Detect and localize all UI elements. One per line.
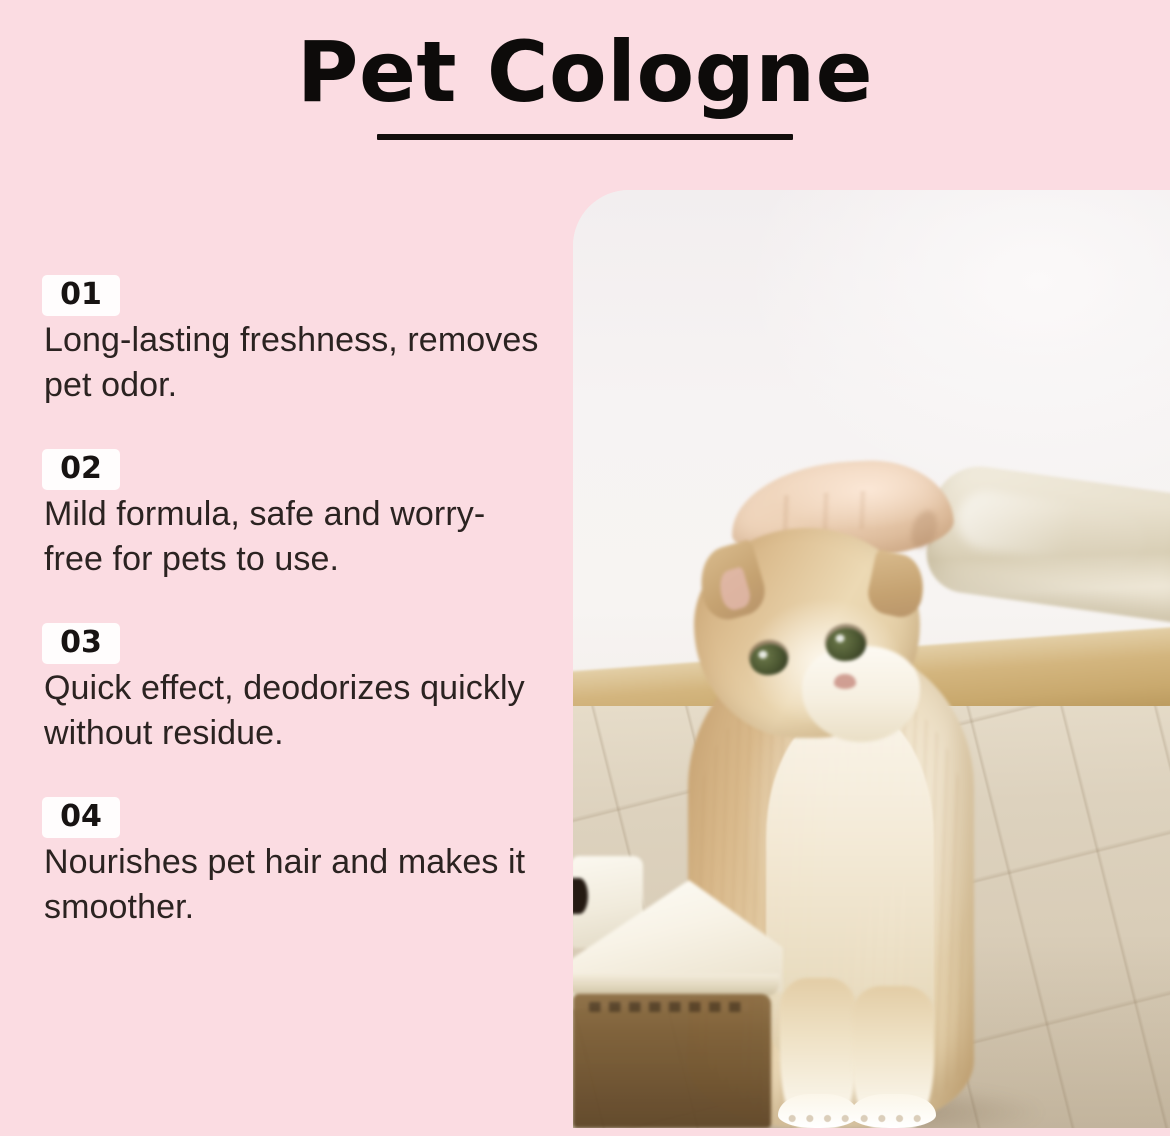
- cat-paw-toes-right: [856, 1112, 924, 1125]
- feature-item-03: 03 Quick effect, deodorizes quickly with…: [42, 623, 542, 756]
- cat-ear-inner-left: [715, 566, 753, 612]
- feature-item-01: 01 Long-lasting freshness, removes pet o…: [42, 275, 542, 408]
- poster-canvas: Pet Cologne 01 Long-lasting freshness, r…: [0, 0, 1170, 1136]
- cat-eye-left: [748, 642, 789, 677]
- feature-number-badge-02: 02: [42, 449, 120, 490]
- feature-item-02: 02 Mild formula, safe and worry-free for…: [42, 449, 542, 582]
- cat-head: [694, 528, 920, 738]
- fountain-sensor-icon: [573, 878, 588, 914]
- cat-paw-toes-left: [784, 1112, 852, 1125]
- cat-ear-right: [864, 549, 930, 621]
- feature-item-04: 04 Nourishes pet hair and makes it smoot…: [42, 797, 542, 930]
- fountain-lid-rim: [573, 974, 779, 996]
- cat-paw-left: [778, 1094, 858, 1128]
- feature-number-badge-04: 04: [42, 797, 120, 838]
- feature-text-02: Mild formula, safe and worry-free for pe…: [44, 492, 542, 582]
- cat-paw-right: [850, 1094, 936, 1128]
- feature-list: 01 Long-lasting freshness, removes pet o…: [42, 275, 542, 930]
- cat-ear-left: [691, 539, 770, 625]
- feature-text-01: Long-lasting freshness, removes pet odor…: [44, 318, 542, 408]
- fountain-water-tank: [573, 994, 771, 1128]
- pet-water-fountain: [573, 856, 783, 1128]
- page-title: Pet Cologne: [0, 24, 1170, 120]
- product-photo: [573, 190, 1170, 1128]
- title-block: Pet Cologne: [0, 24, 1170, 140]
- feature-number-badge-01: 01: [42, 275, 120, 316]
- feature-number-badge-03: 03: [42, 623, 120, 664]
- feature-text-03: Quick effect, deodorizes quickly without…: [44, 666, 542, 756]
- feature-text-04: Nourishes pet hair and makes it smoother…: [44, 840, 542, 930]
- fountain-vent-slots: [589, 1002, 749, 1012]
- title-underline-rule: [377, 134, 793, 140]
- cat-nose: [834, 674, 856, 689]
